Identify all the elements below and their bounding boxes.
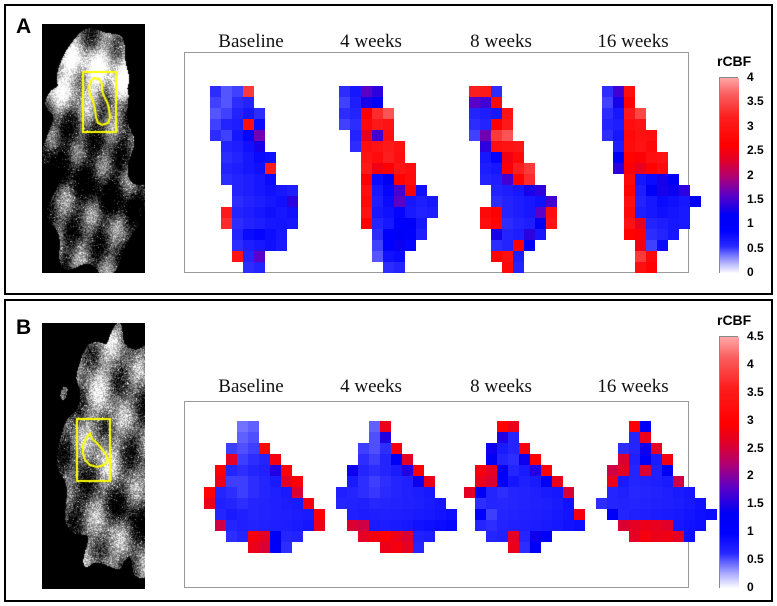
panel-a-heatmap-8weeks	[458, 86, 568, 284]
panel-b-timepoint-8weeks: 8 weeks	[446, 377, 556, 396]
panel-a-heatmap-4weeks	[328, 86, 438, 284]
panel-a-heatmap-16weeks	[591, 86, 701, 284]
panel-a: A Baseline 4 weeks 8 weeks 16 weeks rCBF…	[4, 4, 773, 295]
panel-a-timepoint-baseline: Baseline	[196, 32, 306, 51]
colorbar-tick-label: 1.5	[747, 497, 764, 509]
panel-b-mri-image	[42, 323, 145, 589]
panel-b-colorbar	[719, 336, 738, 588]
panel-b-heatmap-baseline	[204, 421, 336, 564]
colorbar-tick-label: 3.5	[747, 386, 764, 398]
colorbar-tick-label: 0	[747, 266, 754, 278]
panel-a-mri-image	[42, 24, 145, 273]
panel-b-colorbar-ticks: 4.543.532.521.510.50	[743, 336, 777, 588]
panel-b-colorbar-title: rCBF	[717, 313, 751, 327]
colorbar-tick-label: 4.5	[747, 330, 764, 342]
panel-a-timepoint-8weeks: 8 weeks	[446, 32, 556, 51]
colorbar-tick-label: 3	[747, 414, 754, 426]
panel-a-timepoint-16weeks: 16 weeks	[578, 32, 688, 51]
panel-a-colorbar-ticks: 43.532.521.510.50	[743, 77, 777, 273]
panel-b: B Baseline 4 weeks 8 weeks 16 weeks rCBF…	[4, 299, 773, 602]
panel-b-heatmap-8weeks	[464, 421, 596, 564]
colorbar-tick-label: 2	[747, 469, 754, 481]
panel-a-colorbar	[719, 77, 738, 273]
panel-b-letter: B	[16, 317, 31, 338]
colorbar-tick-label: 0.5	[747, 242, 764, 254]
colorbar-tick-label: 1	[747, 525, 754, 537]
panel-b-timepoint-16weeks: 16 weeks	[578, 377, 688, 396]
colorbar-tick-label: 2.5	[747, 144, 764, 156]
colorbar-tick-label: 0.5	[747, 553, 764, 565]
panel-a-heatmap-baseline	[199, 86, 309, 284]
panel-b-timepoint-baseline: Baseline	[196, 377, 306, 396]
figure-root: A Baseline 4 weeks 8 weeks 16 weeks rCBF…	[0, 0, 777, 606]
panel-a-letter: A	[16, 16, 31, 37]
colorbar-tick-label: 2.5	[747, 442, 764, 454]
panel-b-heatmap-4weeks	[336, 421, 468, 564]
colorbar-tick-label: 0	[747, 581, 754, 593]
colorbar-tick-label: 2	[747, 169, 754, 181]
colorbar-tick-label: 4	[747, 71, 754, 83]
colorbar-tick-label: 1.5	[747, 193, 764, 205]
panel-b-heatmap-16weeks	[596, 421, 728, 564]
colorbar-tick-label: 4	[747, 358, 754, 370]
colorbar-tick-label: 3.5	[747, 95, 764, 107]
panel-a-colorbar-title: rCBF	[717, 54, 751, 68]
colorbar-tick-label: 1	[747, 217, 754, 229]
panel-a-timepoint-4weeks: 4 weeks	[316, 32, 426, 51]
colorbar-tick-label: 3	[747, 120, 754, 132]
panel-b-timepoint-4weeks: 4 weeks	[316, 377, 426, 396]
